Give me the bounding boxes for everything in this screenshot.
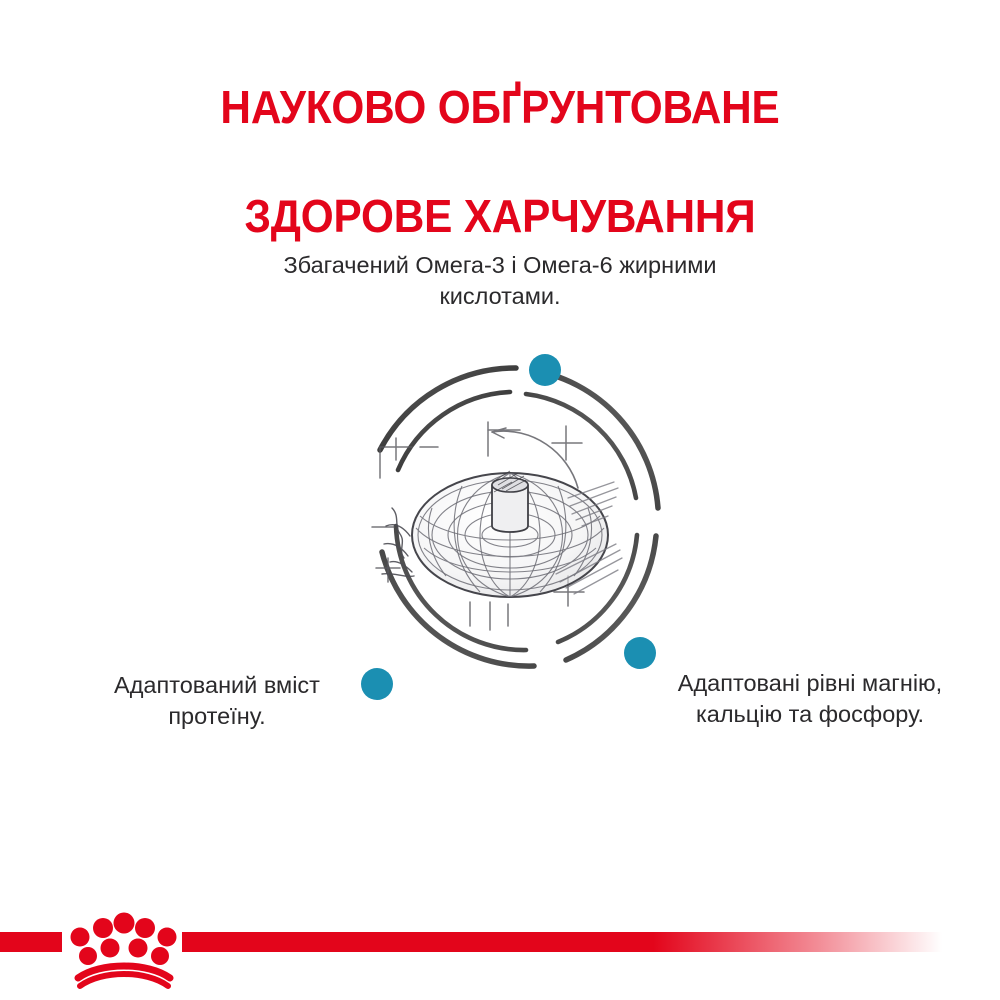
callout-label-protein: Адаптований вміст протеїну. [72,670,362,732]
kibble-sketch [382,471,622,597]
callout-dot-minerals [624,637,656,669]
infographic-page: НАУКОВО ОБҐРУНТОВАНЕ ЗДОРОВЕ ХАРЧУВАННЯ … [0,0,1000,1000]
callout-label-minerals: Адаптовані рівні магнію, кальцію та фосф… [655,668,965,730]
callout-label-omega: Збагачений Омега-3 і Омега-6 жирними кис… [260,250,740,312]
page-title-line-2: ЗДОРОВЕ ХАРЧУВАННЯ [40,189,960,243]
kibble-diagram [320,330,700,730]
brand-rule-right [182,932,942,952]
brand-rule-left [0,932,62,952]
page-title-line-1: НАУКОВО ОБҐРУНТОВАНЕ [40,80,960,134]
callout-dot-omega [529,354,561,386]
callout-dot-protein [361,668,393,700]
royal-canin-crown-logo [71,913,177,987]
brand-footer [0,890,1000,1000]
kibble-center-nub [492,471,528,532]
